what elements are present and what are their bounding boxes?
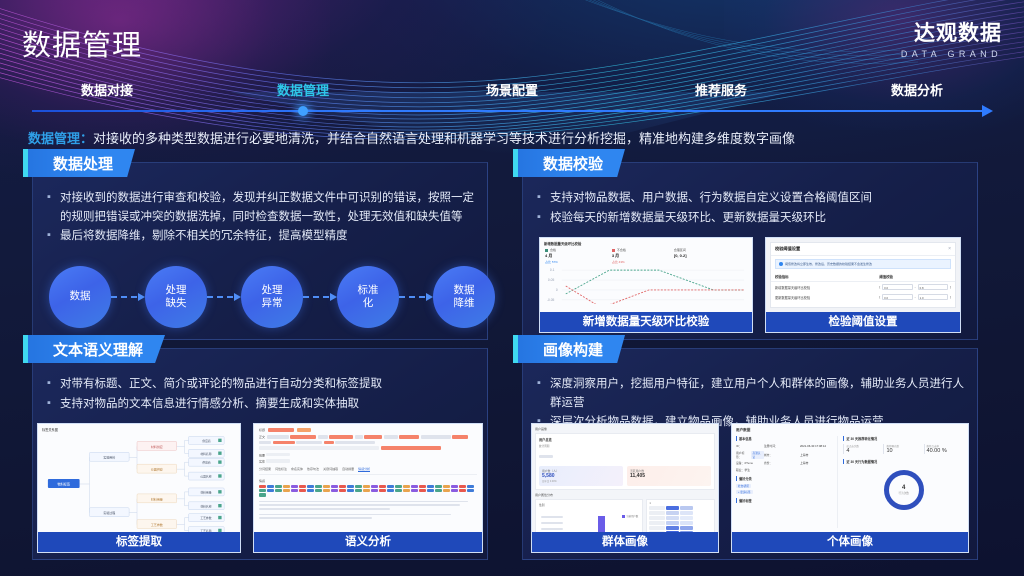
bullet-list-data-processing: ▪ 对接收到的数据进行审查和校验，发现并纠正数据文件中可识别的错误，按照一定的规…: [47, 189, 475, 247]
thumbnail-ringratio-chart[interactable]: 新增数据量天级环比校验 合格 4 月 占比 57% 不合格 3 月 占比 43%: [539, 237, 753, 333]
field-province-value: 上海市: [800, 461, 833, 465]
flow-arrow-icon: [303, 296, 337, 298]
section-header-text-semantics: 文本语义理解: [23, 335, 165, 363]
legend-label: 合格: [550, 248, 556, 252]
stage-nav: 数据对接 数据管理 场景配置 推荐服务 数据分析: [0, 80, 1024, 120]
bullet-text: 对接收到的数据进行审查和校验，发现并纠正数据文件中可识别的错误，按照一定的规则把…: [60, 189, 475, 226]
nav-item-4[interactable]: 推荐服务: [695, 80, 747, 99]
nav-item-1[interactable]: 数据对接: [81, 80, 133, 99]
section-header-data-processing: 数据处理: [23, 149, 135, 177]
bullet-item: ▪ 深度洞察用户，挖掘用户特征，建立用户个人和群体的画像，辅助业务人员进行人群运…: [537, 375, 965, 412]
section-title: 数据校验: [543, 153, 603, 174]
bullet-dot-icon: ▪: [537, 189, 550, 208]
thumbnail-image: 新增数据量天级环比校验 合格 4 月 占比 57% 不合格 3 月 占比 43%: [540, 238, 752, 312]
flow-node-label: 处理缺失: [166, 284, 187, 310]
bullet-dot-icon: ▪: [47, 227, 60, 246]
thumbnail-individual-profile[interactable]: 用户数据 基本信息 ID： 注册时间： 2021-06-30 17:08:14: [731, 423, 969, 553]
tab-item[interactable]: 关键词抽取: [323, 467, 338, 472]
flow-arrow-icon: [207, 296, 241, 298]
nav-active-dot-icon: [298, 106, 308, 116]
chart-legend-label: 当前用户数: [626, 514, 638, 518]
svg-text:仪器名称: 仪器名称: [200, 475, 211, 479]
thumbnail-caption: 新增数据量天级环比校验: [540, 312, 752, 332]
mini-dialog-header: 校验阈值设置 ×: [771, 243, 955, 256]
svg-text:工艺参数: 工艺参数: [151, 522, 163, 527]
chart-axis-label: 性别: [539, 503, 639, 507]
bullet-text: 最后将数据降维，剔除不相关的冗余特征，提高模型精度: [60, 227, 475, 246]
stat-card-active: 活跃用户数 11,405: [627, 466, 711, 486]
nav-item-5[interactable]: 数据分析: [891, 80, 943, 99]
flow-node-1: 数据: [49, 266, 111, 328]
range-label: 合理区间: [674, 248, 686, 252]
flow-node-2: 处理缺失: [145, 266, 207, 328]
svg-text:供应商: 供应商: [202, 461, 211, 465]
legend-value: 3 月: [612, 253, 626, 259]
bullet-dot-icon: ▪: [47, 375, 60, 394]
svg-text:材料用量: 材料用量: [151, 496, 163, 501]
bullet-text: 对带有标题、正文、简介或评论的物品进行自动分类和标签提取: [60, 375, 475, 394]
min-input[interactable]: 0.0: [882, 284, 913, 290]
legend-value: 4 月: [545, 253, 558, 259]
svg-text:工艺名称: 工艺名称: [200, 529, 211, 532]
section-label-basic: 基本信息: [736, 436, 833, 441]
legend-entry-unqualified: 不合格 3 月 占比 43%: [612, 248, 626, 264]
donut-label: 行为次数: [899, 491, 909, 495]
bullet-item: ▪ 最后将数据降维，剔除不相关的冗余特征，提高模型精度: [47, 227, 475, 246]
flow-node-label: 数据降维: [454, 284, 475, 310]
svg-text:实验用料: 实验用料: [103, 455, 115, 460]
subtitle-lead: 数据管理：: [28, 131, 93, 146]
field-id: ID：: [736, 444, 764, 448]
svg-text:-0.05: -0.05: [547, 298, 555, 302]
section-label-overview: 用户总览: [539, 437, 711, 442]
thumbnail-caption: 群体画像: [532, 532, 718, 552]
bullet-item: ▪ 支持对物品的文本信息进行情感分析、摘要生成和实体抽取: [47, 395, 475, 414]
section-title: 数据处理: [53, 153, 113, 174]
section-header-data-validation: 数据校验: [513, 149, 625, 177]
svg-text:实验过程: 实验过程: [103, 510, 115, 515]
info-icon: [779, 262, 783, 266]
column-header-threshold: 阈值校验: [879, 274, 951, 279]
stat-ctr: 推荐点击率 40.00 %: [924, 444, 964, 454]
row-metric: 更新数据量天级环比校验: [775, 295, 875, 300]
max-input[interactable]: 0.8: [918, 284, 949, 290]
dialog-title: 校验阈值设置: [775, 246, 800, 252]
svg-text:0.1: 0.1: [550, 268, 555, 272]
legend-entry-qualified: 合格 4 月 占比 57%: [545, 248, 558, 264]
stat-clicks: 总点击次数 4: [843, 444, 880, 454]
stat-card-users: 用户数（人） 5,580 日环比 0.00%: [539, 466, 623, 486]
section-header-profile-building: 画像构建: [513, 335, 625, 363]
mini-table-row: 更新数据量天级环比校验 [ 0.0 - 1.0 ]: [771, 292, 955, 302]
brand-logo: 达观数据 DATA GRAND: [901, 22, 1002, 59]
nav-item-3[interactable]: 场景配置: [486, 80, 538, 99]
accent-bar: [513, 335, 518, 363]
bullet-list-data-validation: ▪ 支持对物品数据、用户数据、行为数据自定义设置合格阈值区间 ▪ 校验每天的新增…: [537, 189, 965, 228]
svg-text:0.05: 0.05: [548, 278, 555, 282]
tab-item[interactable]: 分词结果: [259, 467, 271, 472]
bullet-text: 校验每天的新增数据量天级环比、更新数据量天级环比: [550, 209, 965, 228]
field-occupation: 职业：学生: [736, 468, 833, 472]
flow-node-3: 处理异常: [241, 266, 303, 328]
svg-text:0: 0: [556, 288, 558, 292]
stat-value: 40.00 %: [927, 448, 964, 454]
field-label-entity: 实体: [259, 460, 265, 464]
accent-bar: [513, 149, 518, 177]
bullet-dot-icon: ▪: [537, 209, 550, 228]
thumbnail-image: 标题 正文: [254, 424, 482, 532]
field-device: 设备：iPhone: [736, 461, 764, 465]
section-label-attributes: 用户属性分布: [535, 493, 715, 497]
bullet-list-text-semantics: ▪ 对带有标题、正文、简介或评论的物品进行自动分类和标签提取 ▪ 支持对物品的文…: [47, 375, 475, 414]
mini-table-row: 新增数据量天级环比校验 [ 0.0 - 0.8 ]: [771, 282, 955, 292]
flow-arrow-icon: [399, 296, 433, 298]
tab-item[interactable]: 词性标注: [275, 467, 287, 472]
panel-text-semantics: 文本语义理解 ▪ 对带有标题、正文、简介或评论的物品进行自动分类和标签提取 ▪ …: [32, 348, 488, 560]
slide-root: 数据管理 达观数据 DATA GRAND 数据对接 数据管理 场景配置 推荐服务…: [0, 0, 1024, 576]
svg-text:物料标签: 物料标签: [57, 481, 70, 486]
bullet-dot-icon: ▪: [47, 189, 60, 226]
flow-node-label: 标准化: [358, 284, 379, 310]
panel-data-processing: 数据处理 ▪ 对接收到的数据进行审查和校验，发现并纠正数据文件中可识别的错误，按…: [32, 162, 488, 340]
mini-page-title: 用户数据: [736, 428, 964, 433]
svg-text:材料名称: 材料名称: [200, 504, 211, 508]
mini-chart-title: 新增数据量天级环比校验: [540, 238, 752, 248]
thumbnail-semantic-analysis[interactable]: 标题 正文: [253, 423, 483, 553]
panel-data-validation: 数据校验 ▪ 支持对物品数据、用户数据、行为数据自定义设置合格阈值区间 ▪ 校验…: [522, 162, 978, 340]
bullet-dot-icon: ▪: [537, 375, 550, 412]
mini-dialog-tip: 阈值修改将立即生效，修改后，历史数据的校验结果不会发生修改: [775, 259, 951, 269]
field-label-sentiment: 情感: [259, 479, 477, 483]
max-input[interactable]: 1.0: [918, 294, 949, 300]
svg-text:供应商: 供应商: [202, 439, 211, 443]
logo-english-text: DATA GRAND: [901, 49, 1002, 59]
legend-label: 不合格: [617, 248, 626, 252]
flow-node-5: 数据降维: [433, 266, 495, 328]
section-label-pref-tag: 偏好标签: [736, 498, 833, 503]
bullet-item: ▪ 校验每天的新增数据量天级环比、更新数据量天级环比: [537, 209, 965, 228]
bullet-text: 支持对物品的文本信息进行情感分析、摘要生成和实体抽取: [60, 395, 475, 414]
field-register-time-value: 2021-06-30 17:08:14: [800, 444, 833, 448]
thumbnail-image: 校验阈值设置 × 阈值修改将立即生效，修改后，历史数据的校验结果不会发生修改 校…: [766, 238, 960, 312]
svg-text:材料供应: 材料供应: [151, 444, 163, 449]
slide-subtitle: 数据管理：对接收的多种类型数据进行必要地清洗，并结合自然语言处理和机器学习等技术…: [28, 128, 795, 147]
flow-node-4: 标准化: [337, 266, 399, 328]
nav-item-2[interactable]: 数据管理: [277, 80, 329, 99]
bullet-item: ▪ 对接收到的数据进行审查和校验，发现并纠正数据文件中可识别的错误，按照一定的规…: [47, 189, 475, 226]
thumbnail-caption: 检验阈值设置: [766, 312, 960, 332]
field-label-summary: 摘要: [259, 453, 265, 457]
thumbnail-image: 用户数据 基本信息 ID： 注册时间： 2021-06-30 17:08:14: [732, 424, 968, 532]
mini-tree-diagram: 物料标签 实验用料 实验过程 材料供应 仪器供应 材料用量: [38, 435, 240, 532]
tab-item[interactable]: 命名实体: [291, 467, 303, 472]
tip-text: 阈值修改将立即生效，修改后，历史数据的校验结果不会发生修改: [785, 262, 872, 266]
field-register-time: 注册时间：: [764, 444, 800, 448]
svg-text:材料名称: 材料名称: [200, 452, 211, 456]
bullet-dot-icon: ▪: [47, 395, 60, 414]
thumbnail-caption: 标签提取: [38, 532, 240, 552]
section-title: 画像构建: [543, 339, 603, 360]
flow-node-label: 数据: [70, 290, 91, 303]
row-metric: 新增数据量天级环比校验: [775, 285, 875, 290]
mini-tree-title: 标签关系图: [38, 424, 240, 435]
field-province: 省份：: [764, 461, 800, 465]
bullet-item: ▪ 支持对物品数据、用户数据、行为数据自定义设置合格阈值区间: [537, 189, 965, 208]
stat-value: 11,405: [630, 473, 708, 479]
thumbnail-row-validation: 新增数据量天级环比校验 合格 4 月 占比 57% 不合格 3 月 占比 43%: [523, 237, 977, 333]
field-city: 城市：: [764, 453, 800, 457]
mini-breadcrumb: 用户画像: [535, 427, 715, 431]
column-header-metric: 校验指标: [775, 274, 875, 279]
min-input[interactable]: 0.0: [882, 294, 913, 300]
subtitle-text: 对接收的多种类型数据进行必要地清洗，并结合自然语言处理和机器学习等技术进行分析挖…: [93, 131, 795, 146]
flow-arrow-icon: [111, 296, 145, 298]
stat-impressions: 推荐曝光数 10: [883, 444, 920, 454]
svg-text:材料用量: 材料用量: [200, 490, 211, 494]
behavior-donut-chart: 4 行为次数: [884, 470, 924, 510]
section-label-pref-category: 偏好分类: [736, 476, 833, 481]
mini-bar-chart: 性别 当前用户数: [535, 499, 643, 532]
section-label-conversion: 近 30 天推荐转化情况: [843, 436, 964, 441]
thumbnail-threshold-dialog[interactable]: 校验阈值设置 × 阈值修改将立即生效，修改后，历史数据的校验结果不会发生修改 校…: [765, 237, 961, 333]
bullet-text: 深度洞察用户，挖掘用户特征，建立用户个人和群体的画像，辅助业务人员进行人群运营: [550, 375, 965, 412]
panel-profile-building: 画像构建 ▪ 深度洞察用户，挖掘用户特征，建立用户个人和群体的画像，辅助业务人员…: [522, 348, 978, 560]
stat-sub: 日环比 0.00%: [542, 479, 620, 483]
mini-table-header: 校验指标 阈值校验: [771, 272, 955, 282]
tab-item[interactable]: 自动摘要: [342, 467, 354, 472]
user-tag-badge: 高潜认证: [751, 451, 764, 459]
accent-bar: [23, 149, 28, 177]
processing-flow-diagram: 数据 处理缺失 处理异常 标准化 数据降维: [49, 263, 473, 331]
mini-heat-table: 1: [646, 499, 715, 532]
thumbnail-group-profile[interactable]: 用户画像 用户总览 统计周期 用户数（人） 5,580 日环比 0.00%: [531, 423, 719, 553]
tab-item[interactable]: 依存句法: [307, 467, 319, 472]
accent-bar: [23, 335, 28, 363]
page-title: 数据管理: [22, 22, 142, 64]
bullet-item: ▪ 对带有标题、正文、简介或评论的物品进行自动分类和标签提取: [47, 375, 475, 394]
mini-tab-bar: 分词结果 词性标注 命名实体 依存句法 关键词抽取 自动摘要 情感分析: [259, 467, 477, 475]
field-label-title: 标题: [259, 428, 265, 432]
legend-pct: 占比 57%: [545, 260, 558, 264]
thumbnail-image: 标签关系图 物料标签: [38, 424, 240, 532]
svg-text:仪器供应: 仪器供应: [151, 467, 163, 472]
field-city-value: 上海市: [800, 453, 833, 457]
section-title: 文本语义理解: [53, 339, 143, 360]
thumbnail-image: 用户画像 用户总览 统计周期 用户数（人） 5,580 日环比 0.00%: [532, 424, 718, 532]
flow-node-label: 处理异常: [262, 284, 283, 310]
range-value: [0, 0.2]: [674, 253, 687, 258]
mini-chart-legend: 合格 4 月 占比 57% 不合格 3 月 占比 43% 合理区间 [0, 0.…: [540, 248, 752, 264]
close-icon[interactable]: ×: [948, 246, 951, 252]
nav-arrow-icon: [982, 105, 993, 117]
stat-value: 10: [886, 448, 920, 454]
bullet-text: 支持对物品数据、用户数据、行为数据自定义设置合格阈值区间: [550, 189, 965, 208]
thumbnail-tag-extraction[interactable]: 标签关系图 物料标签: [37, 423, 241, 553]
field-label-body: 正文: [259, 435, 265, 439]
legend-entry-range: 合理区间 [0, 0.2]: [674, 248, 687, 264]
thumbnail-row-profile: 用户画像 用户总览 统计周期 用户数（人） 5,580 日环比 0.00%: [523, 423, 977, 553]
thumbnail-caption: 语义分析: [254, 532, 482, 552]
tab-item-active[interactable]: 情感分析: [358, 467, 370, 472]
mini-line-chart: 0.1 0.05 0 -0.05: [540, 264, 752, 304]
legend-pct: 占比 43%: [612, 260, 626, 264]
svg-text:工艺参数: 工艺参数: [200, 516, 211, 520]
logo-chinese-text: 达观数据: [901, 22, 1002, 46]
field-user-tag: 用户标签：: [736, 451, 749, 459]
thumbnail-caption: 个体画像: [732, 532, 968, 552]
token-color-grid: [259, 485, 477, 497]
section-label-behavior: 近 30 天行为数据情况: [843, 459, 964, 464]
nav-progress-line: [32, 110, 984, 112]
thumbnail-row-semantics: 标签关系图 物料标签: [33, 423, 487, 553]
stat-value: 4: [846, 448, 880, 454]
